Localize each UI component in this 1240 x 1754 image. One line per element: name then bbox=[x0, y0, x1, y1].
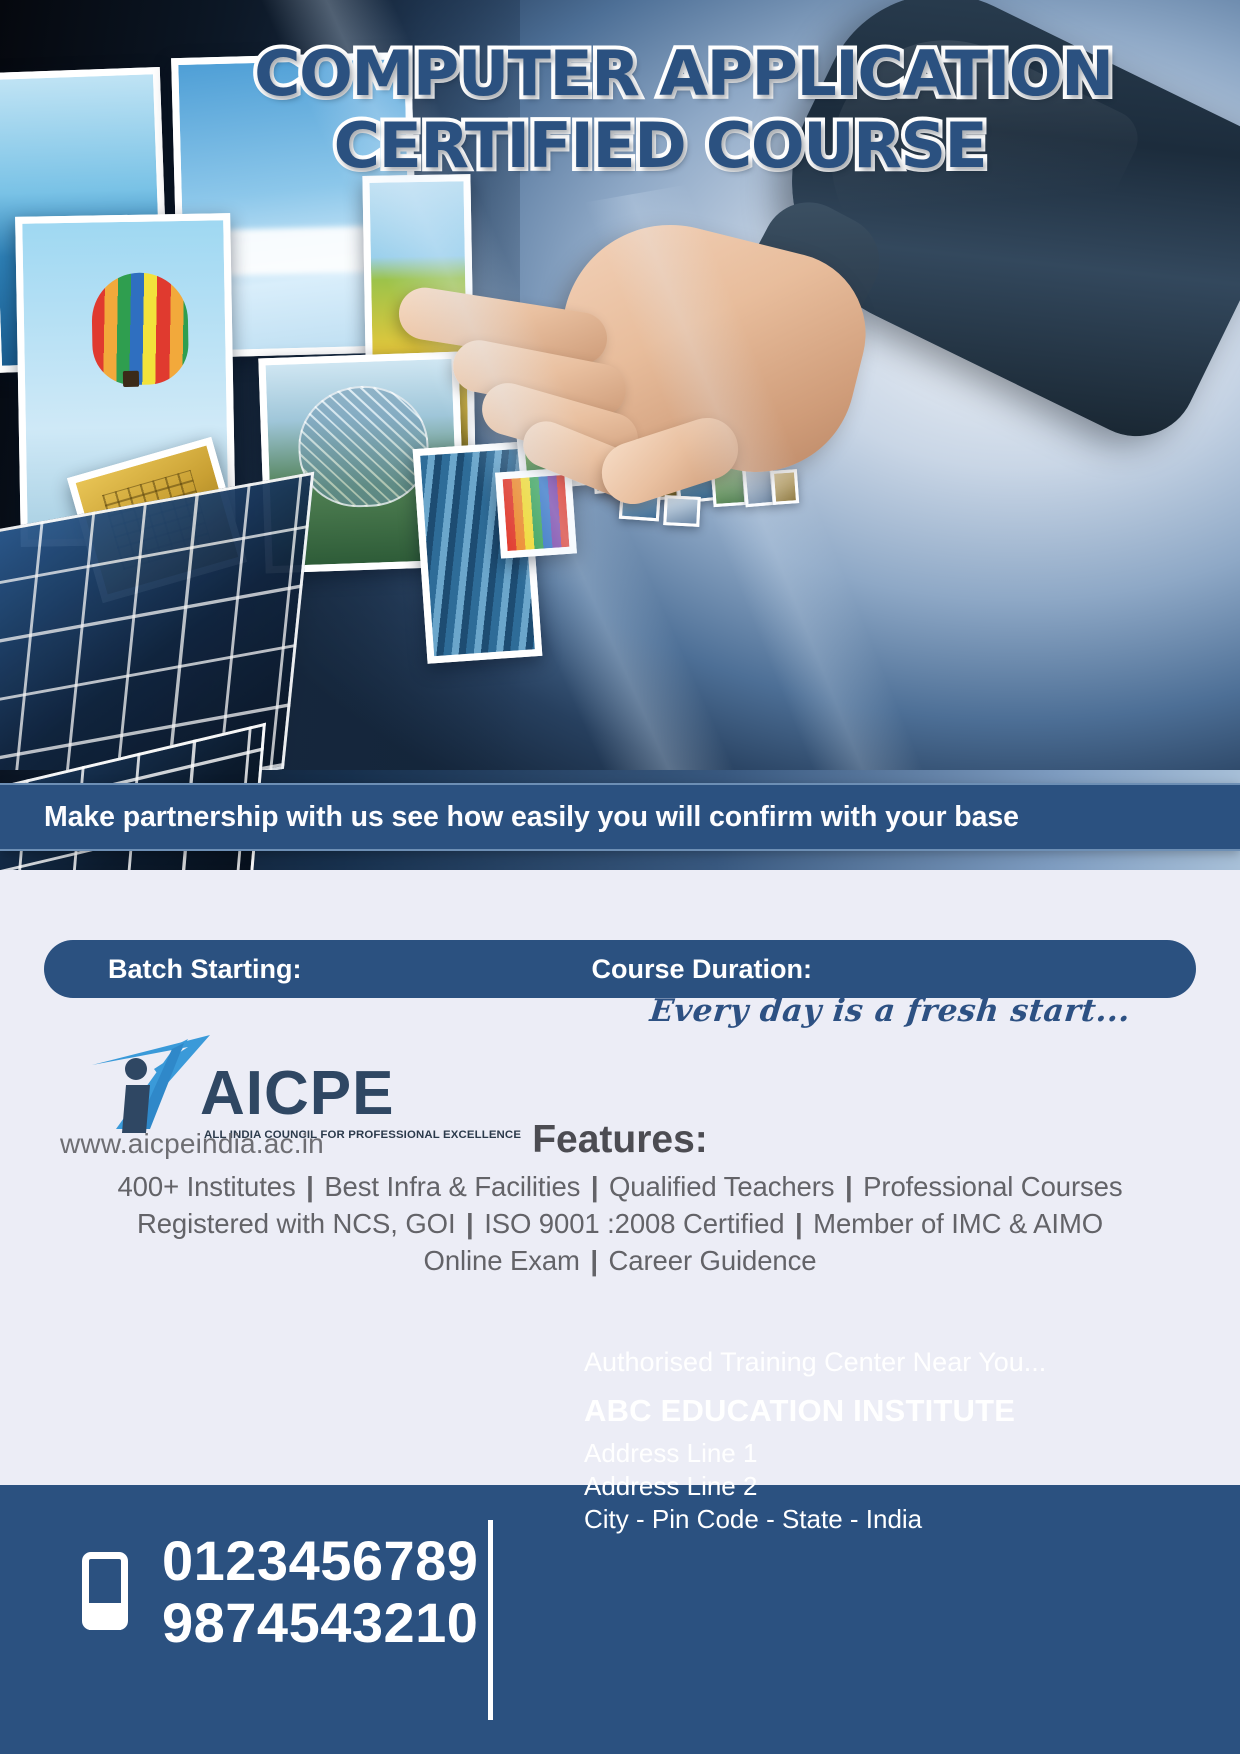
tagline-text: Make partnership with us see how easily … bbox=[0, 801, 1019, 834]
feature-item: Career Guidence bbox=[609, 1245, 817, 1276]
course-duration-label: Course Duration: bbox=[592, 954, 813, 985]
feature-item: Registered with NCS, GOI bbox=[137, 1208, 456, 1239]
photo-card-rainbow bbox=[495, 467, 577, 558]
address-line-2: Address Line 2 bbox=[584, 1470, 922, 1503]
poster-title-line-1: COMPUTER APPLICATION bbox=[250, 38, 1005, 110]
script-tagline: Every day is a fresh start... bbox=[648, 993, 1132, 1029]
address-line-1: Address Line 1 bbox=[584, 1437, 922, 1470]
feature-separator: | bbox=[834, 1171, 863, 1202]
poster-title: COMPUTER APPLICATION CERTIFIED COURSE bbox=[250, 38, 990, 182]
features-heading: Features: bbox=[0, 1118, 1240, 1162]
feature-separator: | bbox=[784, 1208, 813, 1239]
feature-item: 400+ Institutes bbox=[117, 1171, 295, 1202]
authorised-center-heading: Authorised Training Center Near You... bbox=[584, 1347, 1046, 1378]
feature-item: Online Exam bbox=[424, 1245, 580, 1276]
feature-separator: | bbox=[296, 1171, 325, 1202]
feature-item: Qualified Teachers bbox=[609, 1171, 834, 1202]
institute-name: ABC EDUCATION INSTITUTE bbox=[584, 1393, 1015, 1429]
aicpe-logo-wordmark: AICPE bbox=[200, 1063, 394, 1125]
feature-item: Member of IMC & AIMO bbox=[813, 1208, 1103, 1239]
phone-numbers[interactable]: 0123456789 9874543210 bbox=[162, 1530, 478, 1654]
tagline-banner: Make partnership with us see how easily … bbox=[0, 783, 1240, 851]
feature-item: ISO 9001 :2008 Certified bbox=[484, 1208, 784, 1239]
feature-separator: | bbox=[456, 1208, 485, 1239]
features-line-2: Registered with NCS, GOI | ISO 9001 :200… bbox=[0, 1205, 1240, 1242]
photo-card-mini-6 bbox=[771, 469, 799, 505]
batch-starting-label: Batch Starting: bbox=[108, 954, 302, 985]
institute-address: Address Line 1 Address Line 2 City - Pin… bbox=[584, 1437, 922, 1536]
feature-separator: | bbox=[580, 1171, 609, 1202]
feature-item: Best Infra & Facilities bbox=[324, 1171, 580, 1202]
address-line-3: City - Pin Code - State - India bbox=[584, 1503, 922, 1536]
photo-card-mini-8 bbox=[663, 495, 701, 527]
batch-duration-pill: Batch Starting: Course Duration: bbox=[44, 940, 1196, 998]
mobile-phone-icon bbox=[82, 1552, 128, 1630]
phone-number-2: 9874543210 bbox=[162, 1592, 478, 1654]
footer-divider bbox=[488, 1520, 493, 1720]
features-line-1: 400+ Institutes | Best Infra & Facilitie… bbox=[0, 1168, 1240, 1205]
feature-item: Professional Courses bbox=[863, 1171, 1122, 1202]
poster-root: COMPUTER APPLICATION CERTIFIED COURSE Ma… bbox=[0, 0, 1240, 1754]
features-line-3: Online Exam | Career Guidence bbox=[0, 1242, 1240, 1279]
feature-separator: | bbox=[580, 1245, 609, 1276]
features-list: 400+ Institutes | Best Infra & Facilitie… bbox=[0, 1168, 1240, 1279]
phone-number-1: 0123456789 bbox=[162, 1530, 478, 1592]
poster-title-line-2: CERTIFIED COURSE bbox=[250, 110, 1005, 182]
